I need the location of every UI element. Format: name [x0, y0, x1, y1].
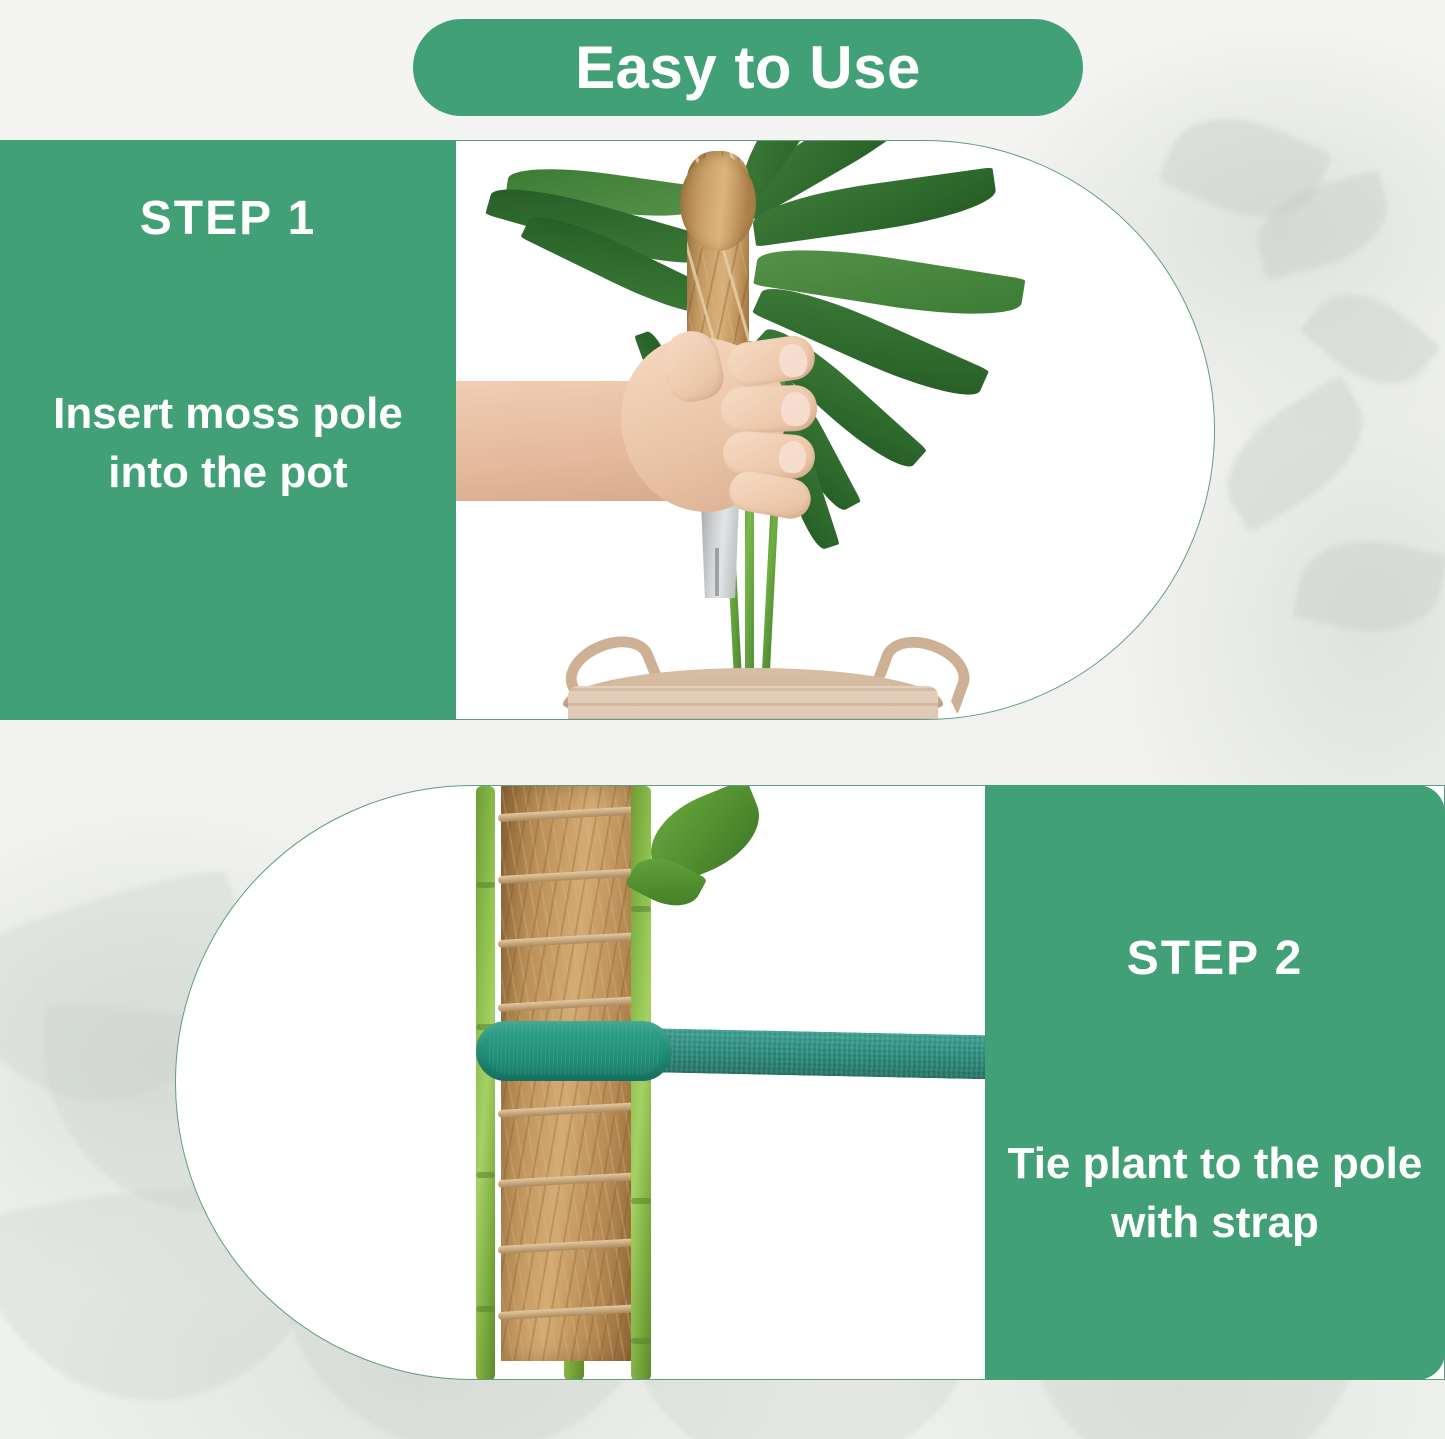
step-1-block: STEP 1 Insert moss pole into the pot	[0, 140, 1215, 720]
woven-basket-pot	[568, 686, 938, 719]
step-2-block: STEP 2 Tie plant to the pole with strap	[175, 785, 1445, 1380]
ghost-leaf-icon	[1292, 526, 1445, 645]
moss-pole-top	[680, 155, 756, 251]
step-1-label: STEP 1	[0, 195, 456, 243]
step-2-text-panel: STEP 2 Tie plant to the pole with strap	[985, 785, 1445, 1380]
step-2-description: Tie plant to the pole with strap	[985, 1135, 1445, 1252]
step-2-label: STEP 2	[985, 935, 1445, 983]
plant-stem	[476, 786, 495, 1379]
ghost-leaf-icon	[1204, 374, 1386, 533]
plant-tie-strap-loop	[476, 1021, 672, 1081]
step-1-text-panel: STEP 1 Insert moss pole into the pot	[0, 140, 456, 720]
header-banner: Easy to Use	[413, 19, 1083, 116]
fingernail	[781, 392, 810, 426]
step-1-description: Insert moss pole into the pot	[0, 385, 456, 502]
page-title: Easy to Use	[575, 38, 921, 98]
